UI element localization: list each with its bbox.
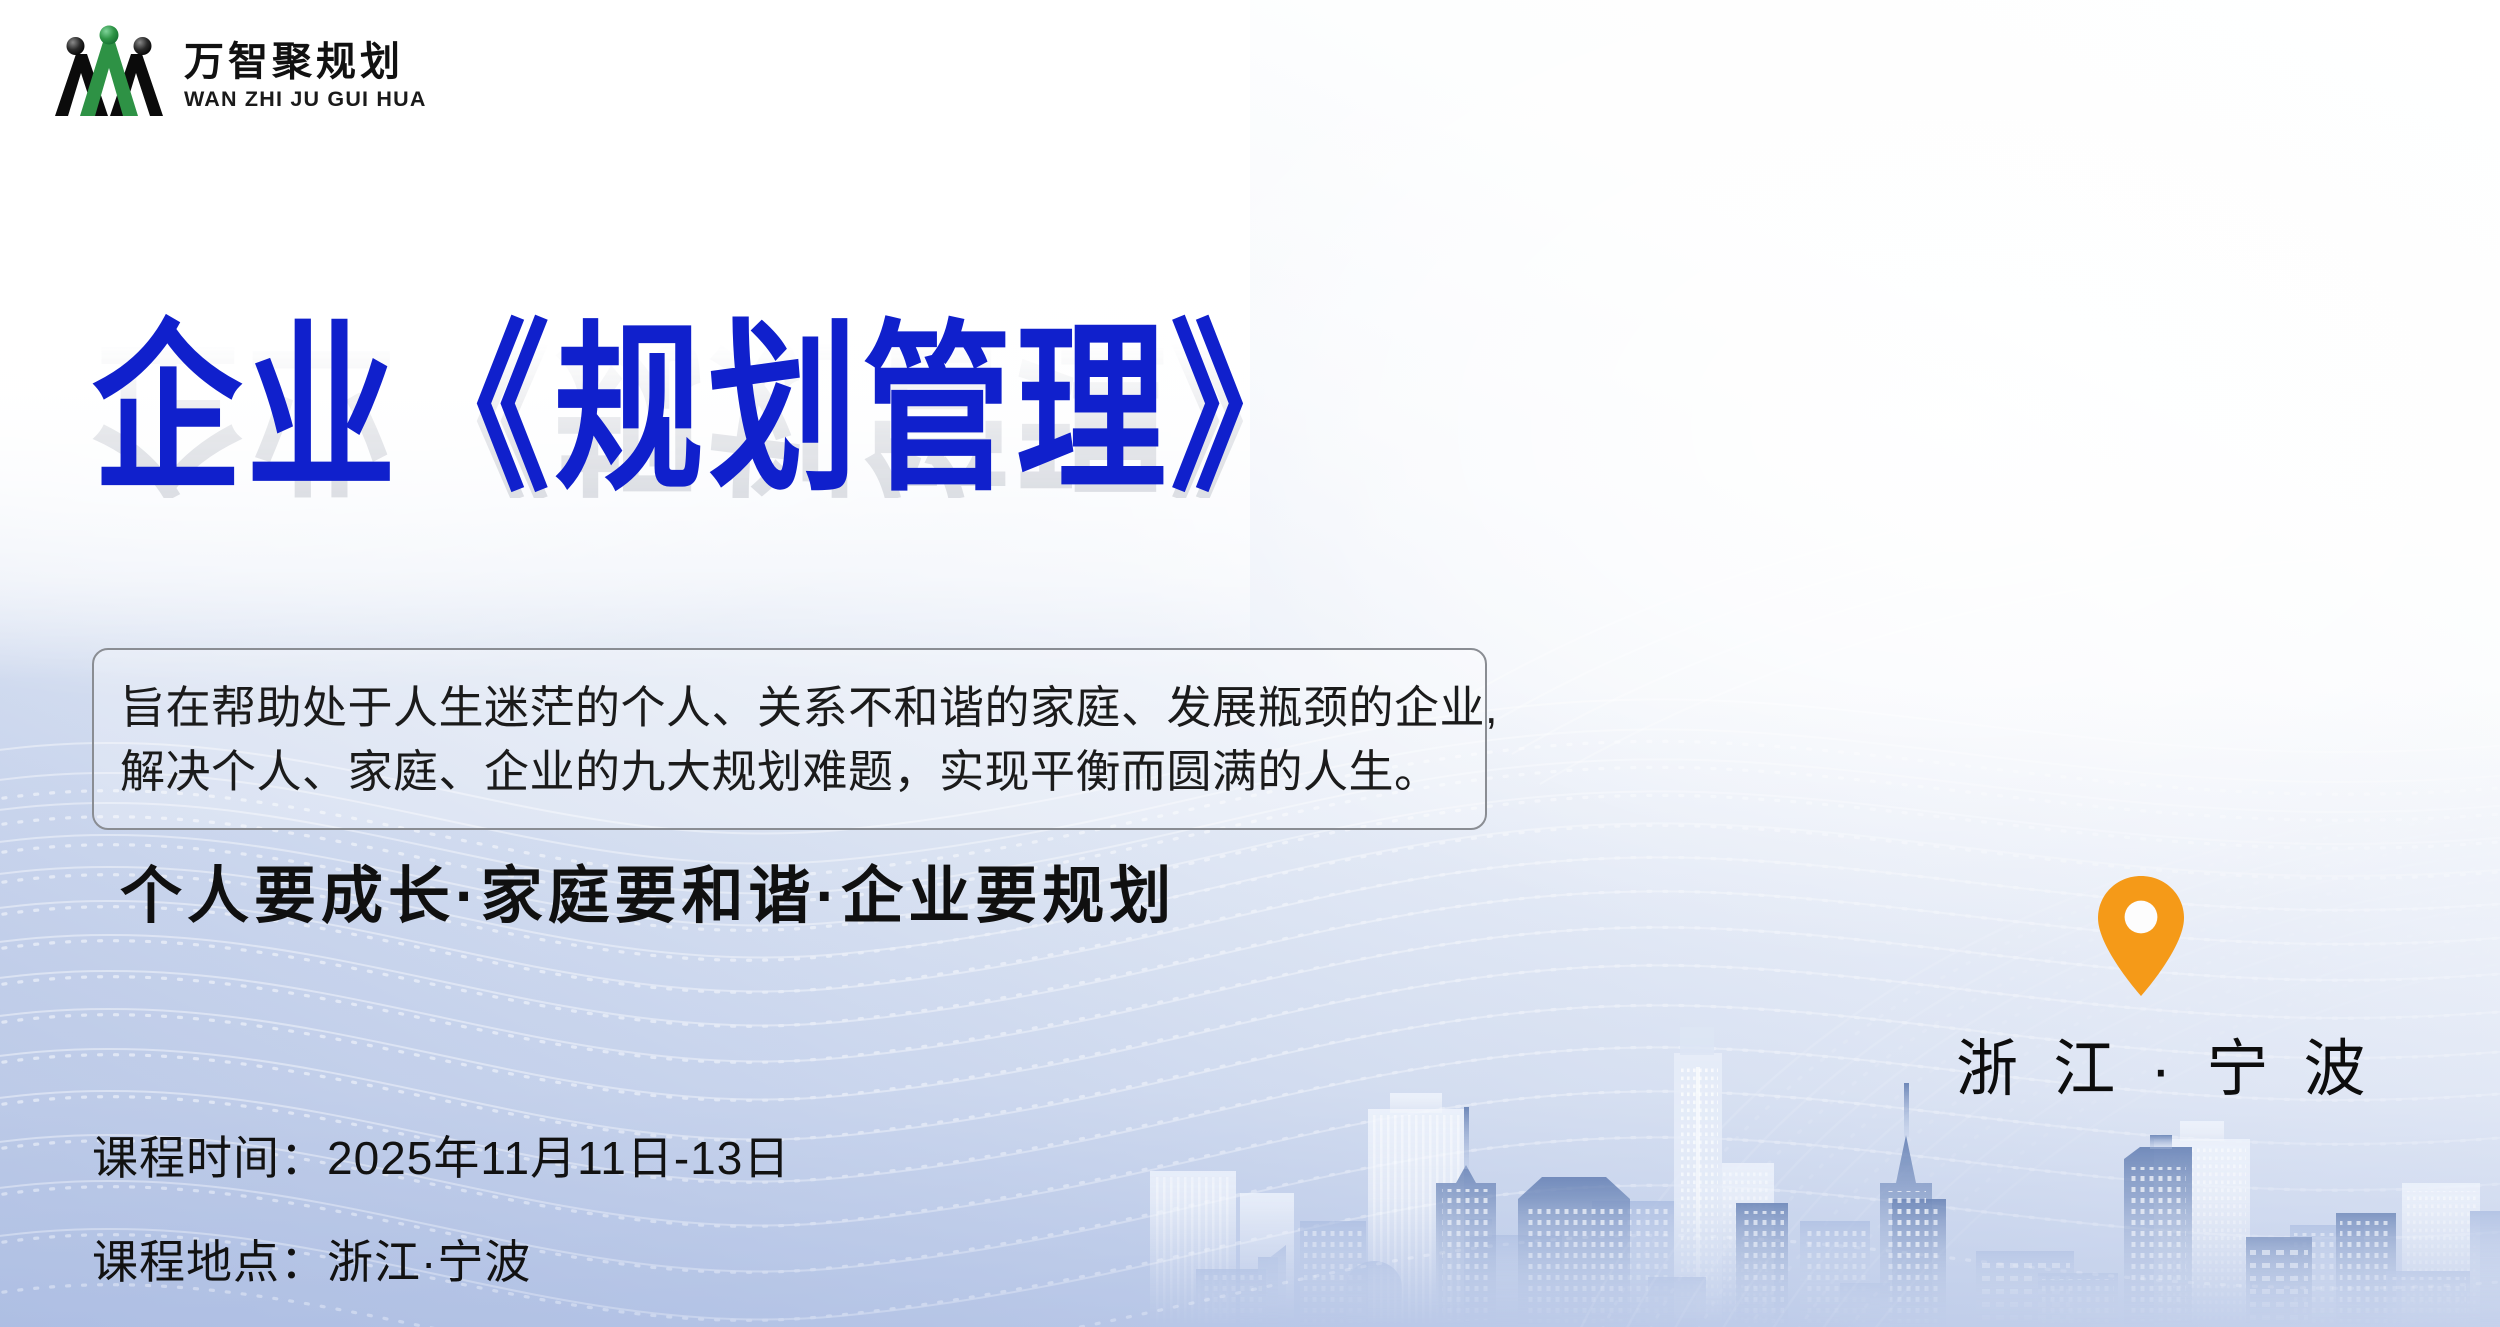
location-label: 浙 江 · 宁 波: [1956, 1018, 2326, 1108]
description-line-2: 解决个人、家庭、企业的九大规划难题，实现平衡而圆满的人生。: [120, 740, 1459, 804]
map-pin-icon: [2093, 872, 2189, 1000]
brand-name-cn: 万智聚规划: [184, 42, 427, 82]
page-title-block: 企业《规划管理》: [92, 318, 1324, 468]
brand-logo[interactable]: 万智聚规划 WAN ZHI JU GUI HUA: [48, 24, 427, 128]
page-title: 企业《规划管理》: [92, 318, 1324, 501]
course-time: 课程时间：2025年11月11日-13日: [92, 1122, 790, 1188]
location-group: 浙 江 · 宁 波: [1956, 872, 2326, 1108]
course-info-block: 课程时间：2025年11月11日-13日 课程地点：浙江·宁波: [92, 1122, 790, 1292]
description-box: 旨在帮助处于人生迷茫的个人、关系不和谐的家庭、发展瓶颈的企业, 解决个人、家庭、…: [92, 648, 1487, 830]
tagline: 个人要成长·家庭要和谐·企业要规划: [120, 845, 1176, 935]
three-people-logo-icon: [48, 24, 170, 128]
description-line-1: 旨在帮助处于人生迷茫的个人、关系不和谐的家庭、发展瓶颈的企业,: [120, 676, 1459, 740]
brand-logo-text: 万智聚规划 WAN ZHI JU GUI HUA: [184, 42, 427, 111]
brand-name-en: WAN ZHI JU GUI HUA: [184, 89, 427, 111]
poster-canvas: 万智聚规划 WAN ZHI JU GUI HUA 企业《规划管理》 企业《规划管…: [0, 0, 2500, 1327]
course-place: 课程地点：浙江·宁波: [92, 1226, 790, 1292]
